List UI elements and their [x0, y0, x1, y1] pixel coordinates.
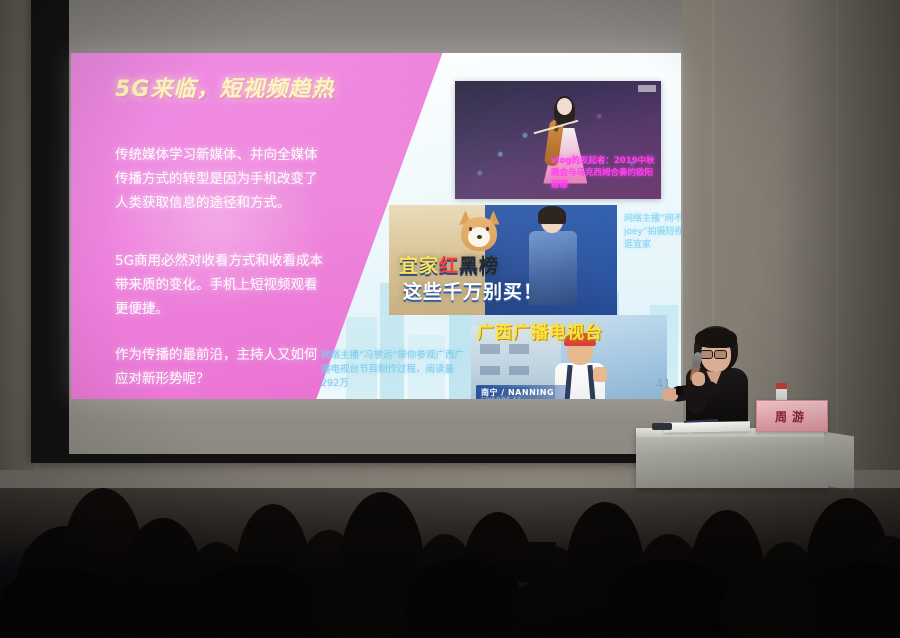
audience-silhouettes — [0, 408, 900, 638]
ikea-overlay-title: 宜家红黑榜 — [399, 251, 499, 278]
lower-third-episode: EPISODE 16 — [481, 397, 522, 399]
audience-head — [512, 574, 618, 638]
audience-head — [196, 564, 316, 638]
projection-screen-frame: 5G来临，短视频趋热 传统媒体学习新媒体、并向全媒体传播方式的转型是因为手机改变… — [31, 0, 659, 463]
glasses-icon — [714, 350, 727, 359]
audience-head — [310, 576, 414, 638]
audience-head — [608, 560, 730, 638]
audience-head — [404, 558, 522, 638]
lower-third-banner: 南宁 / NANNING EPISODE 16 — [476, 385, 568, 399]
ikea-title-part2: 红 — [439, 255, 459, 277]
ikea-caption: 网络主播“网不红萌叔joey”拍摄短视频带你逛宜家 — [624, 213, 681, 252]
broadcast-logo — [638, 85, 656, 92]
screen-top-band — [69, 0, 683, 54]
ikea-overlay-subtitle: 这些千万别买！ — [403, 277, 543, 304]
slide-paragraph-1: 传统媒体学习新媒体、并向全媒体传播方式的转型是因为手机改变了人类获取信息的途径和… — [115, 143, 330, 215]
guangxi-overlay-title: 广西广播电视台 — [477, 318, 603, 343]
slide-paragraph-2: 5G商用必然对收看方式和收看成本带来质的变化。手机上短视频观看更便捷。 — [115, 249, 330, 321]
guangxi-caption: 网络主播“冯掌远”带你参观广西广播电视台节目制作过程，阅读量292万 — [321, 349, 471, 391]
slide-title: 5G来临，短视频趋热 — [115, 75, 365, 105]
ikea-title-part1: 宜家 — [399, 255, 439, 277]
wall-left-panel — [0, 0, 34, 470]
audience-head — [818, 562, 900, 638]
slide-paragraph-3: 作为传播的最前沿，主持人又如何应对新形势呢？ — [115, 343, 330, 391]
presentation-slide: 5G来临，短视频趋热 传统媒体学习新媒体、并向全媒体传播方式的转型是因为手机改变… — [71, 53, 681, 399]
audience-head — [720, 576, 828, 638]
bottle-cap — [776, 383, 787, 389]
ikea-title-part3: 黑榜 — [459, 255, 499, 277]
cello-caption: vlog的发起者：2019中秋晚会与马克西姆合奏的欧阳娜娜 — [551, 155, 655, 191]
media-card-ikea: 宜家红黑榜 这些千万别买！ — [389, 205, 617, 315]
audience-head — [96, 580, 204, 638]
lecture-hall-scene: 5G来临，短视频趋热 传统媒体学习新媒体、并向全媒体传播方式的转型是因为手机改变… — [0, 0, 900, 638]
wristwatch — [676, 386, 683, 395]
media-card-guangxi-tv: 广西广播电视台 南宁 / NANNING EPISODE 16 8:28 — [471, 315, 667, 399]
media-card-cello-vlog: vlog的发起者：2019中秋晚会与马克西姆合奏的欧阳娜娜 — [455, 81, 661, 199]
